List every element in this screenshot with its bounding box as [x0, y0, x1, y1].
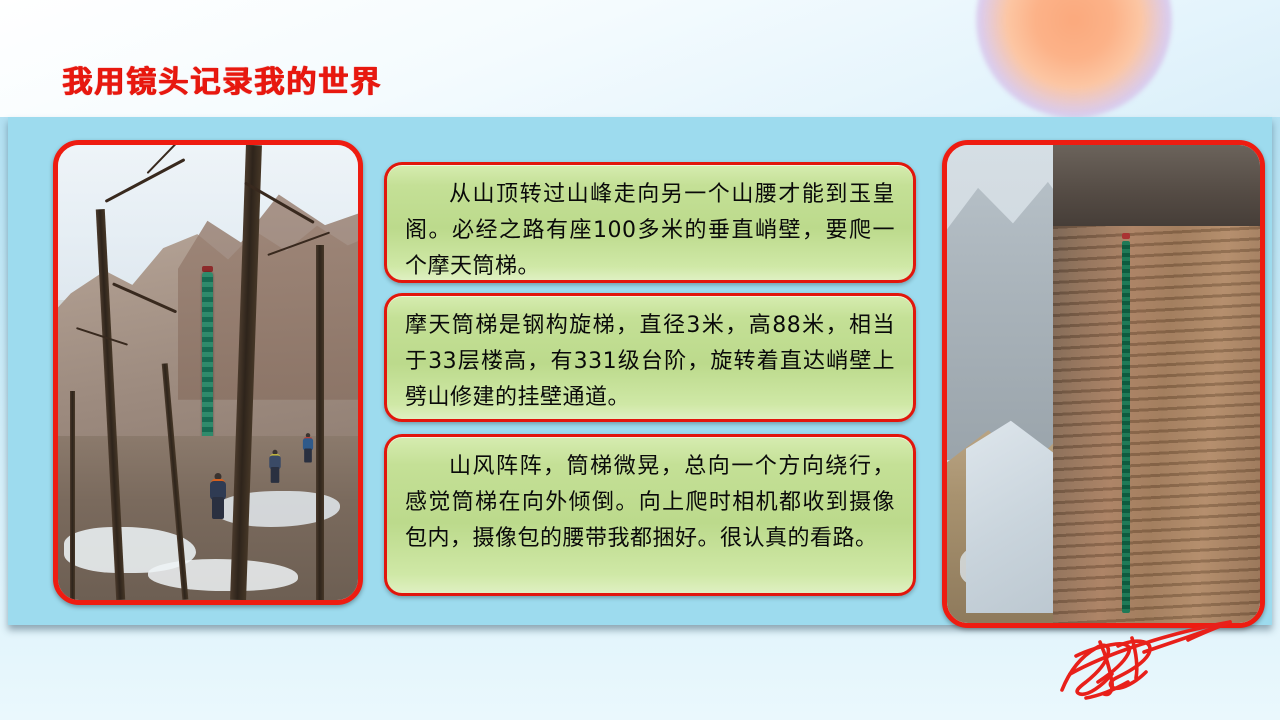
photo-right[interactable]: [942, 140, 1265, 628]
snow-patch: [148, 559, 298, 591]
hiker-legs: [212, 497, 224, 519]
text-box-2[interactable]: 摩天筒梯是钢构旋梯，直径3米，高88米，相当于33层楼高，有331级台阶，旋转着…: [384, 293, 916, 422]
hiker-legs: [271, 467, 280, 483]
hiker-figure: [304, 433, 313, 455]
tower-cap: [202, 266, 213, 272]
hiker-figure: [270, 450, 280, 474]
rock-strata: [1053, 226, 1265, 623]
text-box-3[interactable]: 山风阵阵，筒梯微晃，总向一个方向绕行，感觉筒梯在向外倾倒。向上爬时相机都收到摄像…: [384, 434, 916, 596]
text-box-2-text: 摩天筒梯是钢构旋梯，直径3米，高88米，相当于33层楼高，有331级台阶，旋转着…: [405, 308, 895, 416]
bare-tree: [70, 391, 75, 600]
spiral-ladder-icon: [1122, 241, 1130, 614]
text-box-1[interactable]: 从山顶转过山峰走向另一个山腰才能到玉皇阁。必经之路有座100多米的垂直峭壁，要爬…: [384, 162, 916, 283]
text-box-1-text: 从山顶转过山峰走向另一个山腰才能到玉皇阁。必经之路有座100多米的垂直峭壁，要爬…: [405, 177, 895, 285]
page-title: 我用镜头记录我的世界: [62, 57, 382, 101]
sun-glow-icon: [976, 0, 1172, 117]
hiker-legs: [304, 449, 312, 463]
hiker-figure: [208, 473, 228, 521]
cliff-overhang: [1053, 145, 1265, 226]
text-box-3-text: 山风阵阵，筒梯微晃，总向一个方向绕行，感觉筒梯在向外倾倒。向上爬时相机都收到摄像…: [405, 449, 895, 557]
slide-header: 我用镜头记录我的世界: [0, 0, 1280, 117]
photo-left[interactable]: [53, 140, 363, 605]
ladder-cap: [1122, 233, 1130, 239]
photo-left-image: [58, 145, 358, 600]
bare-tree: [316, 245, 324, 600]
slide-root: 我用镜头记录我的世界: [0, 0, 1280, 720]
photo-right-image: [947, 145, 1260, 623]
